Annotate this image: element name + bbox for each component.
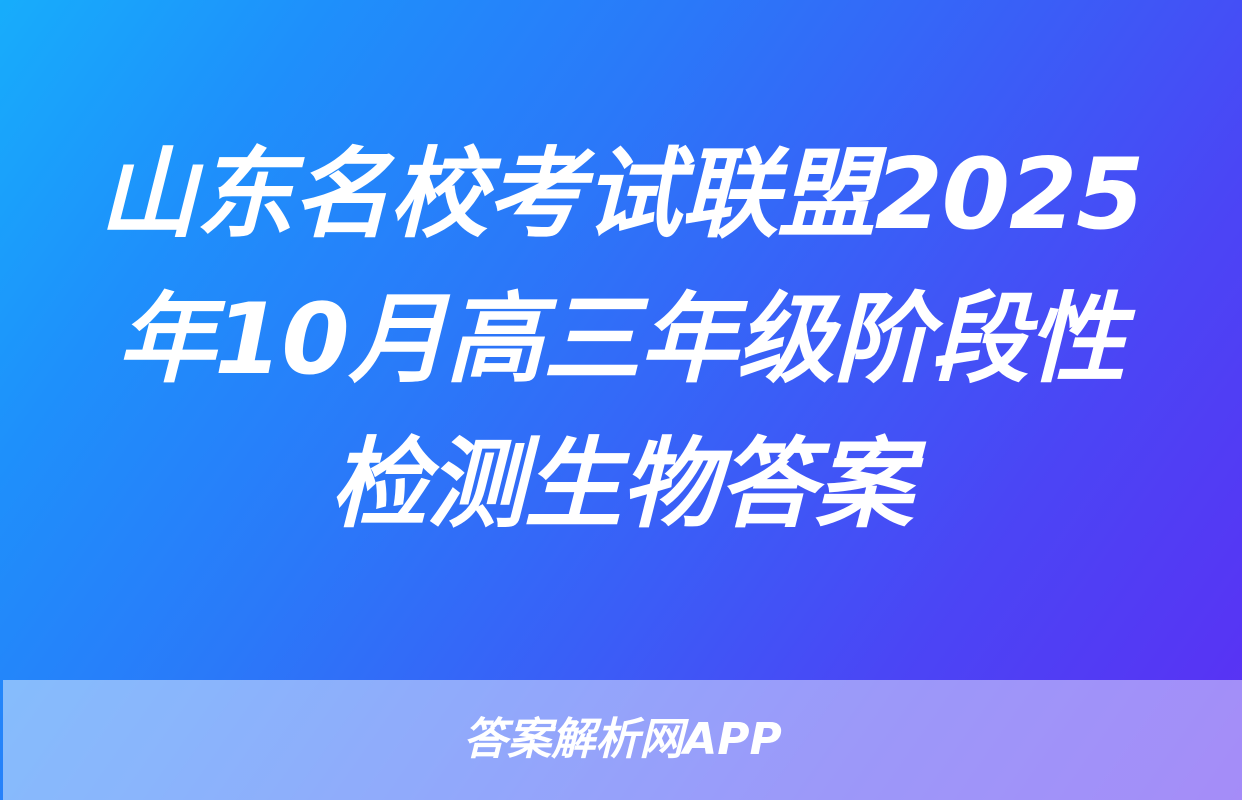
- app-brand-label: 答案解析网APP: [463, 718, 782, 762]
- headline-block: 山东名校考试联盟2025年10月高三年级阶段性检测生物答案: [0, 0, 1242, 680]
- footer-brand-band: 答案解析网APP: [3, 680, 1242, 800]
- page-title: 山东名校考试联盟2025年10月高三年级阶段性检测生物答案: [81, 123, 1161, 558]
- poster-canvas: 山东名校考试联盟2025年10月高三年级阶段性检测生物答案 答案解析网APP: [0, 0, 1242, 800]
